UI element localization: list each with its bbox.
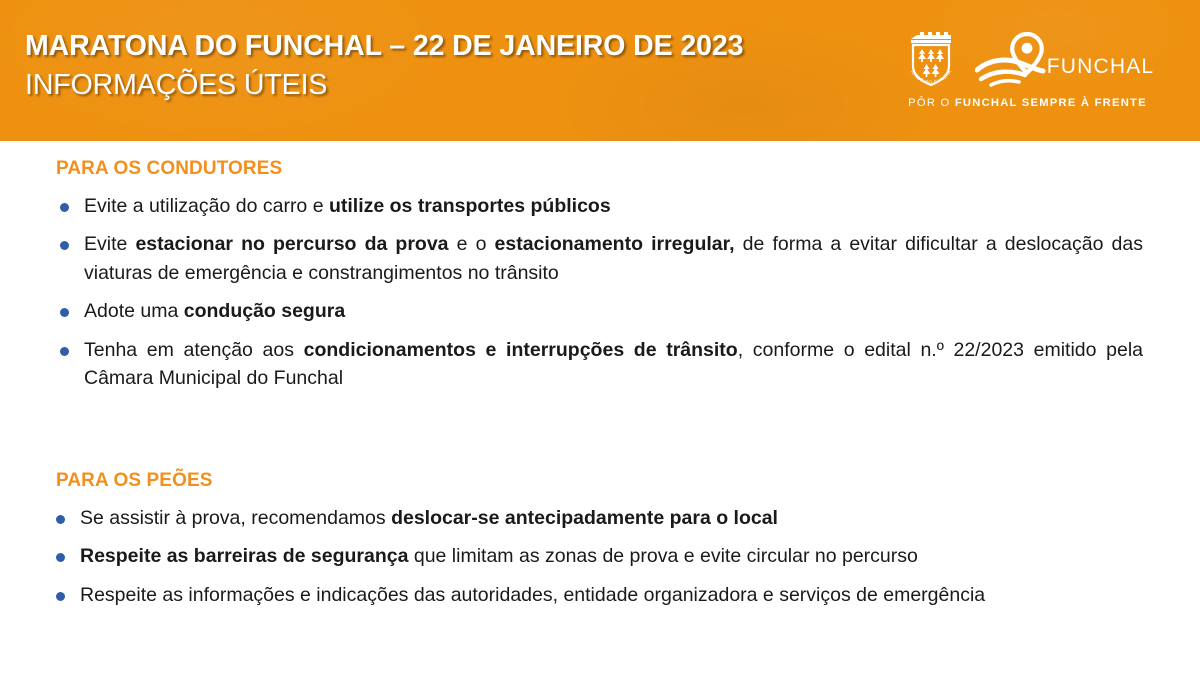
section-title-drivers: PARA OS CONDUTORES — [56, 159, 1200, 180]
emphasis-text: utilize os transportes públicos — [329, 195, 611, 217]
slide-content: PARA OS CONDUTORES Evite a utilização do… — [0, 141, 1200, 675]
slide-header-band: MARATONA DO FUNCHAL – 22 DE JANEIRO DE 2… — [0, 0, 1200, 141]
funchal-wordmark: FUNCHAL — [1047, 56, 1155, 77]
emphasis-text: estacionar no percurso da prova — [135, 233, 448, 255]
header-title-group: MARATONA DO FUNCHAL – 22 DE JANEIRO DE 2… — [25, 29, 885, 103]
section-pedestrians: PARA OS PEÕES Se assistir à prova, recom… — [0, 471, 1200, 619]
list-item-text: Evite estacionar no percurso da prova e … — [84, 230, 1143, 287]
page-title: MARATONA DO FUNCHAL – 22 DE JANEIRO DE 2… — [25, 29, 885, 64]
bullet-list-drivers: Evite a utilização do carro e utilize os… — [0, 192, 1200, 393]
list-item: Evite a utilização do carro e utilize os… — [0, 192, 1200, 220]
emphasis-text: condicionamentos e interrupções de trâns… — [304, 339, 738, 361]
bullet-list-pedestrians: Se assistir à prova, recomendamos desloc… — [0, 504, 1200, 609]
emphasis-text: deslocar-se antecipadamente para o local — [391, 507, 778, 529]
plain-text: Adote uma — [84, 300, 184, 322]
funchal-brand-logo: FUNCHAL — [975, 30, 1155, 88]
list-item-text: Tenha em atenção aos condicionamentos e … — [84, 336, 1143, 393]
list-item: Adote uma condução segura — [0, 297, 1200, 325]
plain-text: Respeite as informações e indicações das… — [80, 584, 985, 606]
plain-text: Se assistir à prova, recomendamos — [80, 507, 391, 529]
emphasis-text: Respeite as barreiras de segurança — [80, 545, 408, 567]
list-item-text: Se assistir à prova, recomendamos desloc… — [80, 504, 1143, 532]
section-title-pedestrians: PARA OS PEÕES — [56, 471, 1200, 492]
tagline-light-part: PÔR O — [908, 97, 955, 109]
plain-text: Tenha em atenção aos — [84, 339, 304, 361]
list-item-text: Evite a utilização do carro e utilize os… — [84, 192, 1143, 220]
logo-row: CIDADE DO FUNCHAL F — [915, 24, 1140, 94]
list-item: Tenha em atenção aos condicionamentos e … — [0, 336, 1200, 393]
list-item: Se assistir à prova, recomendamos desloc… — [0, 504, 1200, 532]
plain-text: que limitam as zonas de prova e evite ci… — [408, 545, 917, 567]
list-item: Respeite as informações e indicações das… — [0, 581, 1200, 609]
plain-text: Evite a utilização do carro e — [84, 195, 329, 217]
funchal-coat-of-arms-icon: CIDADE DO FUNCHAL — [901, 26, 961, 92]
plain-text: e o — [449, 233, 495, 255]
plain-text: Evite — [84, 233, 135, 255]
list-item-text: Respeite as barreiras de segurança que l… — [80, 542, 1143, 570]
page-subtitle: INFORMAÇÕES ÚTEIS — [25, 68, 885, 103]
tagline-strong-part: FUNCHAL SEMPRE À FRENTE — [955, 97, 1147, 109]
brand-tagline: PÔR O FUNCHAL SEMPRE À FRENTE — [908, 97, 1147, 109]
list-item: Evite estacionar no percurso da prova e … — [0, 230, 1200, 287]
list-item-text: Adote uma condução segura — [84, 297, 1143, 325]
logo-cluster: CIDADE DO FUNCHAL F — [915, 24, 1140, 109]
funchal-pin-wave-icon — [975, 30, 1047, 88]
emphasis-text: condução segura — [184, 300, 345, 322]
section-drivers: PARA OS CONDUTORES Evite a utilização do… — [0, 159, 1200, 403]
list-item: Respeite as barreiras de segurança que l… — [0, 542, 1200, 570]
list-item-text: Respeite as informações e indicações das… — [80, 581, 1143, 609]
emphasis-text: estacionamento irregular, — [495, 233, 735, 255]
